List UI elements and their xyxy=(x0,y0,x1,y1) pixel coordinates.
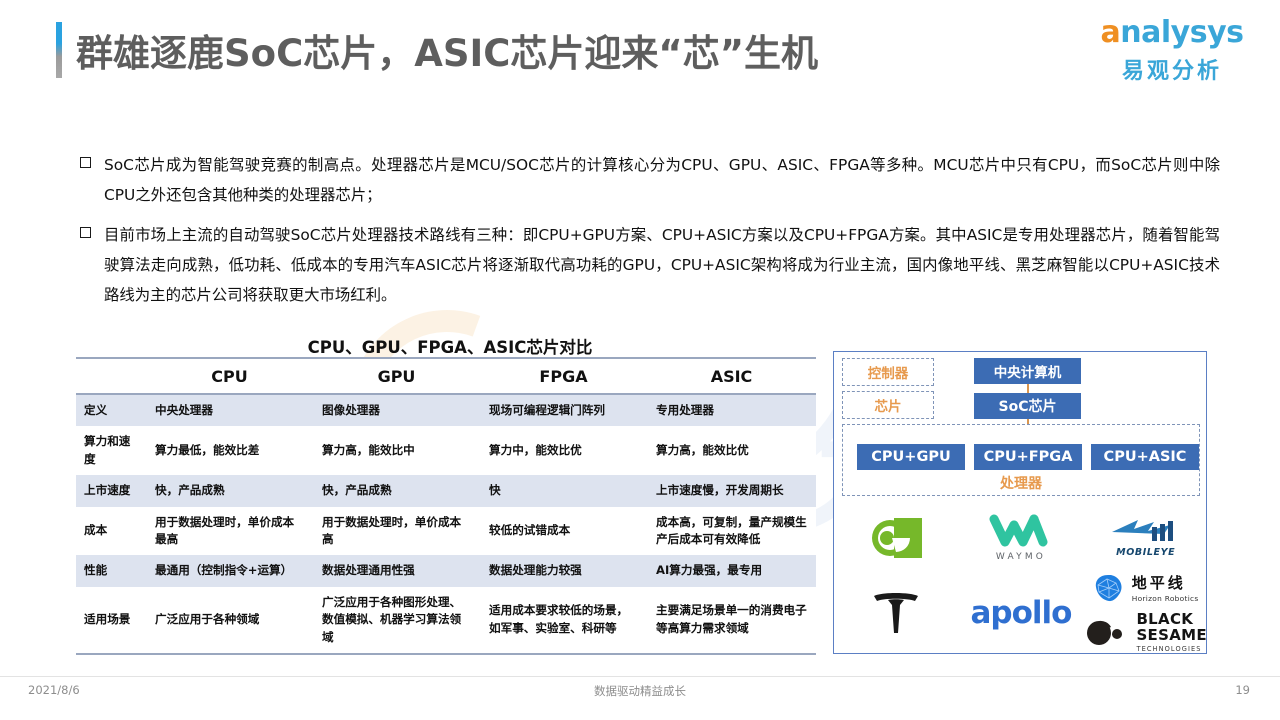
table-cell: 中央处理器 xyxy=(146,394,313,426)
row-label: 性能 xyxy=(76,555,146,586)
node-cpu-gpu: CPU+GPU xyxy=(857,444,965,470)
table-cell: 广泛应用于各种领域 xyxy=(146,587,313,654)
node-cpu-fpga: CPU+FPGA xyxy=(974,444,1082,470)
table-cell: 算力高，能效比优 xyxy=(647,426,816,475)
table-row: 性能 最通用（控制指令+运算） 数据处理通用性强 数据处理能力较强 AI算力最强… xyxy=(76,555,816,586)
table-row: 上市速度 快，产品成熟 快，产品成熟 快 上市速度慢，开发周期长 xyxy=(76,475,816,506)
table-cell: 最通用（控制指令+运算） xyxy=(146,555,313,586)
square-bullet-icon xyxy=(80,157,91,168)
table-cell: AI算力最强，最专用 xyxy=(647,555,816,586)
title-text: 群雄逐鹿SoC芯片，ASIC芯片迎来“芯”生机 xyxy=(76,23,818,77)
table-row: 算力和速度 算力最低，能效比差 算力高，能效比中 算力中，能效比优 算力高，能效… xyxy=(76,426,816,475)
table-cell: 用于数据处理时，单价成本最高 xyxy=(146,507,313,556)
bullet-item: 目前市场上主流的自动驾驶SoC芯片处理器技术路线有三种：即CPU+GPU方案、C… xyxy=(80,220,1220,310)
row-label: 定义 xyxy=(76,394,146,426)
row-label: 成本 xyxy=(76,507,146,556)
footer-page-number: 19 xyxy=(1235,683,1250,697)
logo-cell-mobileye: MOBILEYE xyxy=(1083,504,1208,572)
table-cell: 数据处理能力较强 xyxy=(480,555,647,586)
mobileye-icon xyxy=(1108,518,1184,546)
horizon-brain-icon xyxy=(1093,573,1127,603)
table-cell: 数据处理通用性强 xyxy=(313,555,480,586)
table-cell: 成本高，可复制，量产规模生产后成本可有效降低 xyxy=(647,507,816,556)
table-cell: 快，产品成熟 xyxy=(313,475,480,506)
apollo-wordmark: apollo xyxy=(971,595,1072,631)
footer-tagline: 数据驱动精益成长 xyxy=(0,683,1280,699)
table-cell: 专用处理器 xyxy=(647,394,816,426)
table-cell: 适用成本要求较低的场景，如军事、实验室、科研等 xyxy=(480,587,647,654)
group-controller: 控制器 xyxy=(842,358,934,386)
node-cpu-asic: CPU+ASIC xyxy=(1091,444,1199,470)
brand-logo-en: analysys xyxy=(1092,18,1252,48)
table-header-fpga: FPGA xyxy=(480,358,647,394)
row-label: 算力和速度 xyxy=(76,426,146,475)
logo-cell-horizon-blacksesame: 地平线 Horizon Robotics BLACK SESAME TECHNO xyxy=(1083,572,1208,653)
bullet-text: 目前市场上主流的自动驾驶SoC芯片处理器技术路线有三种：即CPU+GPU方案、C… xyxy=(104,220,1220,310)
table-cell: 快，产品成熟 xyxy=(146,475,313,506)
square-bullet-icon xyxy=(80,227,91,238)
waymo-icon xyxy=(987,514,1055,550)
table-header-cpu: CPU xyxy=(146,358,313,394)
horizon-wordmark-en: Horizon Robotics xyxy=(1132,594,1199,603)
chip-comparison-table: CPU GPU FPGA ASIC 定义 中央处理器 图像处理器 现场可编程逻辑… xyxy=(76,357,816,655)
table-row: 成本 用于数据处理时，单价成本最高 用于数据处理时，单价成本高 较低的试错成本 … xyxy=(76,507,816,556)
brand-logo: analysys 易观分析 xyxy=(1092,18,1252,85)
node-central-computer: 中央计算机 xyxy=(974,358,1081,384)
architecture-panel: 控制器 芯片 处理器 中央计算机 SoC芯片 CPU+GPU CPU+FPGA … xyxy=(833,351,1207,654)
logo-horizon-robotics: 地平线 Horizon Robotics xyxy=(1093,572,1199,603)
bullet-list: SoC芯片成为智能驾驶竞赛的制高点。处理器芯片是MCU/SOC芯片的计算核心分为… xyxy=(80,150,1220,320)
table-cell: 图像处理器 xyxy=(313,394,480,426)
brand-logo-rest: nalysys xyxy=(1120,15,1243,50)
slide-root: 易观分析 群雄逐鹿SoC芯片，ASIC芯片迎来“芯”生机 analysys 易观… xyxy=(0,0,1280,720)
logo-cell-waymo: WAYMO xyxy=(959,504,1084,572)
brand-logo-a-glyph: a xyxy=(1101,15,1121,50)
table-cell: 广泛应用于各种图形处理、数值模拟、机器学习算法领域 xyxy=(313,587,480,654)
node-soc-chip: SoC芯片 xyxy=(974,393,1081,419)
table-row: 适用场景 广泛应用于各种领域 广泛应用于各种图形处理、数值模拟、机器学习算法领域… xyxy=(76,587,816,654)
table-cell: 主要满足场景单一的消费电子等高算力需求领域 xyxy=(647,587,816,654)
table-header-gpu: GPU xyxy=(313,358,480,394)
table-cell: 算力高，能效比中 xyxy=(313,426,480,475)
soc-architecture-diagram: 控制器 芯片 处理器 中央计算机 SoC芯片 CPU+GPU CPU+FPGA … xyxy=(834,352,1206,504)
blacksesame-line2: SESAME xyxy=(1136,628,1206,643)
bullet-item: SoC芯片成为智能驾驶竞赛的制高点。处理器芯片是MCU/SOC芯片的计算核心分为… xyxy=(80,150,1220,210)
table-cell: 快 xyxy=(480,475,647,506)
nvidia-icon xyxy=(866,517,926,559)
table-cell: 算力最低，能效比差 xyxy=(146,426,313,475)
bullet-text: SoC芯片成为智能驾驶竞赛的制高点。处理器芯片是MCU/SOC芯片的计算核心分为… xyxy=(104,150,1220,210)
table-header-row: CPU GPU FPGA ASIC xyxy=(76,358,816,394)
table-title: CPU、GPU、FPGA、ASIC芯片对比 xyxy=(80,334,820,358)
tesla-icon xyxy=(870,589,922,637)
logo-black-sesame: BLACK SESAME TECHNOLOGIES xyxy=(1084,612,1206,653)
black-sesame-icon xyxy=(1084,620,1130,646)
horizon-wordmark-cn: 地平线 xyxy=(1132,572,1199,593)
row-label: 适用场景 xyxy=(76,587,146,654)
table-header-asic: ASIC xyxy=(647,358,816,394)
footer-divider xyxy=(0,676,1280,677)
title-accent-bar xyxy=(56,22,62,78)
logo-cell-apollo: apollo xyxy=(959,572,1084,653)
waymo-wordmark: WAYMO xyxy=(996,552,1046,562)
table-cell: 较低的试错成本 xyxy=(480,507,647,556)
company-logo-grid: WAYMO MOBILEYE xyxy=(834,504,1208,653)
table-cell: 用于数据处理时，单价成本高 xyxy=(313,507,480,556)
table-cell: 上市速度慢，开发周期长 xyxy=(647,475,816,506)
table-cell: 算力中，能效比优 xyxy=(480,426,647,475)
table-header-blank xyxy=(76,358,146,394)
row-label: 上市速度 xyxy=(76,475,146,506)
connector-central-to-soc xyxy=(1027,384,1029,393)
table-row: 定义 中央处理器 图像处理器 现场可编程逻辑门阵列 专用处理器 xyxy=(76,394,816,426)
logo-cell-tesla xyxy=(834,572,959,653)
table-cell: 现场可编程逻辑门阵列 xyxy=(480,394,647,426)
logo-cell-nvidia xyxy=(834,504,959,572)
mobileye-wordmark: MOBILEYE xyxy=(1116,547,1175,558)
brand-logo-cn: 易观分析 xyxy=(1092,53,1252,85)
group-chip: 芯片 xyxy=(842,391,934,419)
blacksesame-line3: TECHNOLOGIES xyxy=(1136,645,1206,653)
page-title: 群雄逐鹿SoC芯片，ASIC芯片迎来“芯”生机 xyxy=(56,22,818,78)
